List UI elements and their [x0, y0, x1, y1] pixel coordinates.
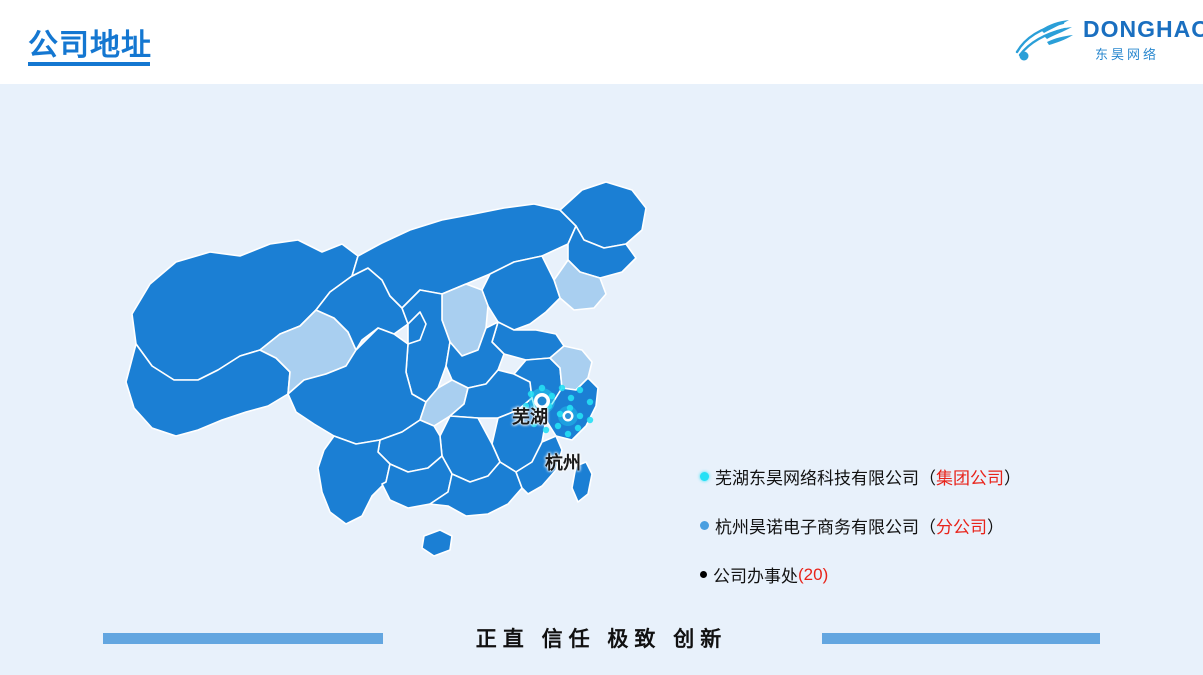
legend: 芜湖东昊网络科技有限公司 （ 集团公司 ） 杭州昊诺电子商务有限公司 （ 分公司… — [700, 464, 1120, 611]
title-underline — [28, 62, 150, 66]
page-header: 公司地址 DONGHAO 东昊网络 — [0, 0, 1203, 84]
logo-text-sub: 东昊网络 — [1095, 44, 1159, 63]
legend-item-branch-company: 杭州昊诺电子商务有限公司 （ 分公司 ） — [700, 513, 1120, 538]
legend-open-paren: （ — [919, 464, 936, 489]
legend-item-group-company: 芜湖东昊网络科技有限公司 （ 集团公司 ） — [700, 464, 1120, 489]
legend-close-paren: ） — [987, 513, 1004, 538]
china-map-svg — [90, 144, 710, 614]
legend-dot-cyan-icon — [700, 472, 709, 481]
legend-close-paren: ） — [1004, 464, 1021, 489]
legend-accent: 分公司 — [936, 513, 987, 538]
legend-close-paren: ) — [823, 565, 829, 585]
donghao-logo-mark-icon — [1011, 12, 1079, 64]
legend-text: 芜湖东昊网络科技有限公司 — [715, 464, 919, 489]
legend-dot-black-icon — [700, 571, 707, 578]
footer-bar-right — [822, 633, 1100, 644]
legend-text: 杭州昊诺电子商务有限公司 — [715, 513, 919, 538]
legend-item-offices: 公司办事处 ( 20 ) — [700, 562, 1120, 587]
company-logo: DONGHAO 东昊网络 — [1011, 10, 1181, 72]
legend-dot-blue-icon — [700, 521, 709, 530]
legend-accent: 集团公司 — [936, 464, 1004, 489]
legend-accent: 20 — [804, 565, 823, 585]
slide-body: 芜湖 杭州 芜湖东昊网络科技有限公司 （ 集团公司 ） 杭州昊诺电子商务有限公司… — [0, 84, 1203, 675]
china-map — [90, 144, 710, 614]
map-label-hangzhou: 杭州 — [545, 449, 581, 475]
legend-open-paren: （ — [919, 513, 936, 538]
map-label-wuhu: 芜湖 — [512, 403, 548, 429]
logo-text-main: DONGHAO — [1083, 16, 1203, 43]
page-title: 公司地址 — [28, 20, 152, 64]
legend-text: 公司办事处 — [713, 562, 798, 587]
